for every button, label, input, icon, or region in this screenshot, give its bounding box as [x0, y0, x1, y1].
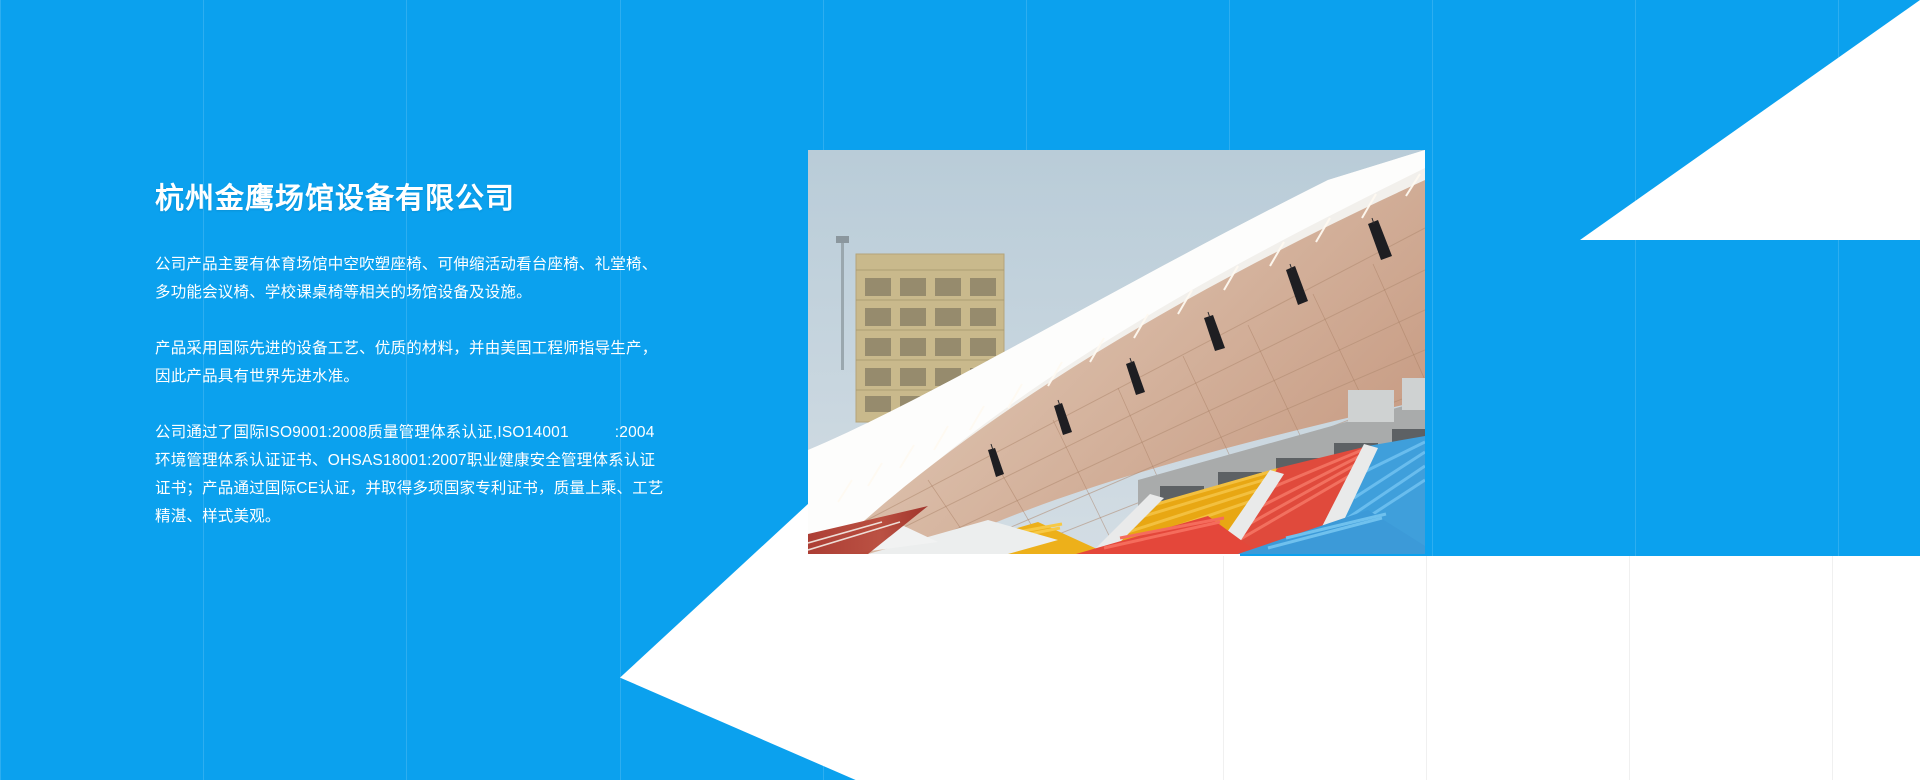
company-title: 杭州金鹰场馆设备有限公司 — [155, 182, 665, 217]
intro-paragraph-products: 公司产品主要有体育场馆中空吹塑座椅、可伸缩活动看台座椅、礼堂椅、多功能会议椅、学… — [155, 251, 665, 307]
hero-banner: 杭州金鹰场馆设备有限公司 公司产品主要有体育场馆中空吹塑座椅、可伸缩活动看台座椅… — [0, 0, 1920, 780]
intro-paragraph-certifications: 公司通过了国际ISO9001:2008质量管理体系认证,ISO14001:200… — [155, 419, 665, 531]
stadium-photo — [808, 150, 1425, 554]
bottom-right-white-block — [1240, 556, 1920, 780]
certifications-line-a: 公司通过了国际ISO9001:2008质量管理体系认证,ISO14001 — [155, 424, 569, 441]
stadium-photo-illustration — [808, 150, 1425, 554]
company-intro-block: 杭州金鹰场馆设备有限公司 公司产品主要有体育场馆中空吹塑座椅、可伸缩活动看台座椅… — [155, 182, 665, 531]
intro-paragraph-quality: 产品采用国际先进的设备工艺、优质的材料，并由美国工程师指导生产，因此产品具有世界… — [155, 335, 665, 391]
